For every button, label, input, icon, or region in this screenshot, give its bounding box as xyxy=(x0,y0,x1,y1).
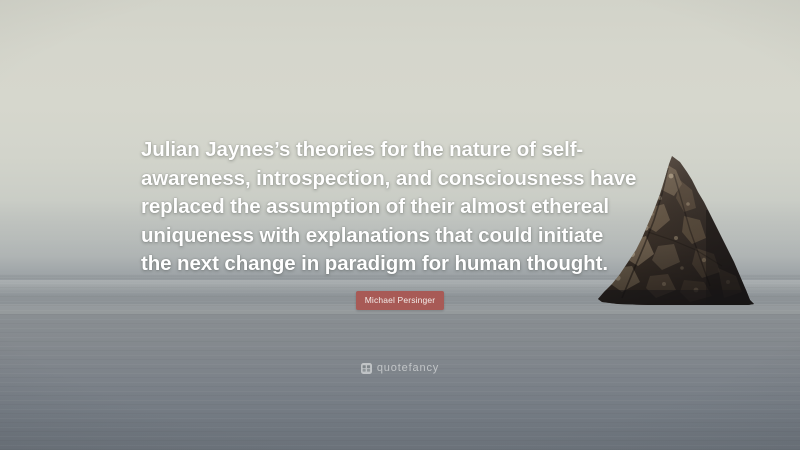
author-attribution: Michael Persinger xyxy=(0,291,800,310)
quote-poster: Julian Jaynes’s theories for the nature … xyxy=(0,0,800,450)
quote-line: Julian Jaynes’s theories for the nature … xyxy=(141,136,675,165)
author-name-badge[interactable]: Michael Persinger xyxy=(356,291,445,310)
quote-line: awareness, introspection, and consciousn… xyxy=(141,165,675,194)
quote-line: replaced the assumption of their almost … xyxy=(141,193,675,222)
quote-line: uniqueness with explanations that could … xyxy=(141,222,675,251)
quote-text: Julian Jaynes’s theories for the nature … xyxy=(141,136,675,279)
quote-line: the next change in paradigm for human th… xyxy=(141,250,675,279)
watermark-brand-text: quotefancy xyxy=(377,362,439,374)
watermark[interactable]: quotefancy xyxy=(0,362,800,374)
quotefancy-logo-icon xyxy=(361,363,372,374)
